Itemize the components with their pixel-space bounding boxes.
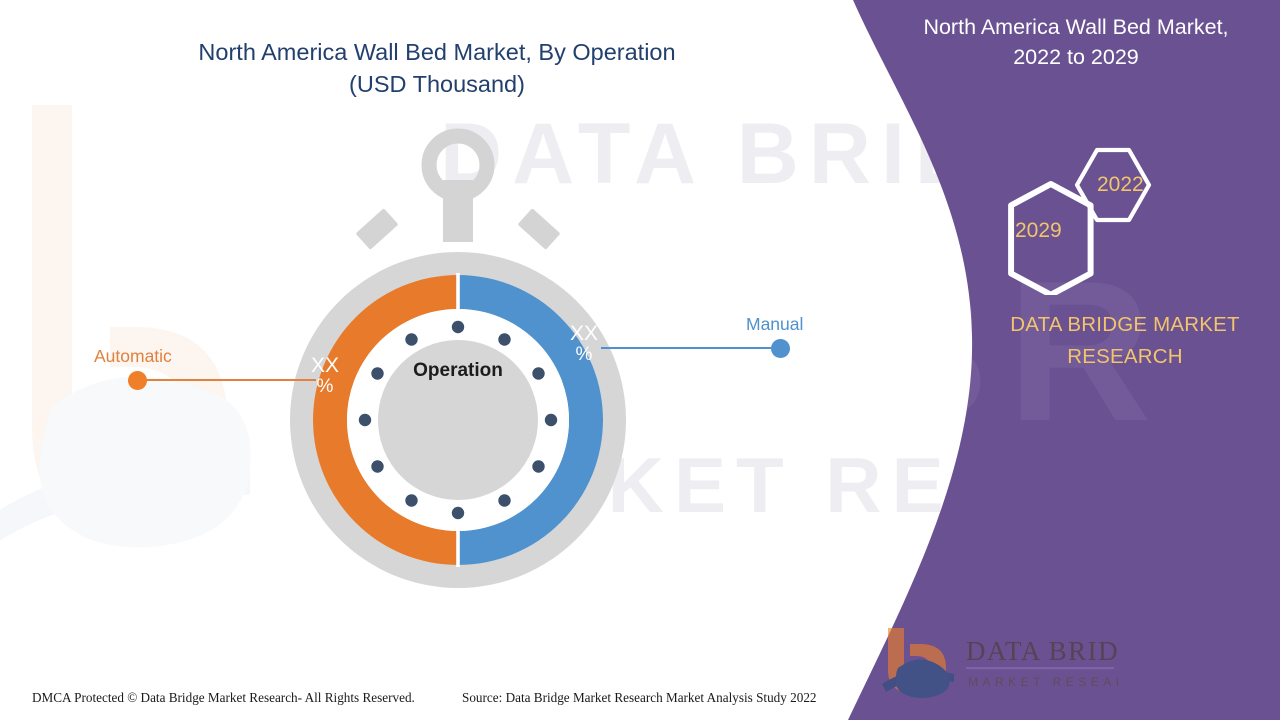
hexagon-label-2022: 2022 — [1097, 173, 1144, 197]
year-hexagons: 2022 2029 — [985, 140, 1195, 295]
dbmr-monogram-icon — [882, 628, 954, 698]
infographic-canvas: DATA BRIDGE MARKET RESEARCH North Americ… — [0, 0, 1280, 720]
hexagon-outlines-icon — [985, 140, 1195, 295]
panel-title-line1: North America Wall Bed Market, — [885, 12, 1267, 42]
panel-title-line2: 2022 to 2029 — [885, 42, 1267, 72]
footer: DMCA Protected © Data Bridge Market Rese… — [0, 678, 860, 720]
footer-copyright: DMCA Protected © Data Bridge Market Rese… — [32, 690, 415, 706]
panel-title: North America Wall Bed Market, 2022 to 2… — [885, 12, 1267, 72]
panel-brand-text: DATA BRIDGE MARKET RESEARCH — [960, 309, 1280, 373]
footer-source: Source: Data Bridge Market Research Mark… — [462, 690, 817, 706]
svg-text:DATA BRIDGE: DATA BRIDGE — [966, 636, 1118, 666]
panel-brand-line1: DATA BRIDGE MARKET — [960, 309, 1280, 341]
logo-wordmark: DATA BRIDGE MARKET RESEARCH — [966, 636, 1118, 689]
data-bridge-logo: DATA BRIDGE MARKET RESEARCH — [878, 622, 1118, 700]
svg-text:MARKET RESEARCH: MARKET RESEARCH — [968, 675, 1118, 689]
panel-brand-line2: RESEARCH — [960, 341, 1280, 373]
hexagon-label-2029: 2029 — [1015, 219, 1062, 243]
